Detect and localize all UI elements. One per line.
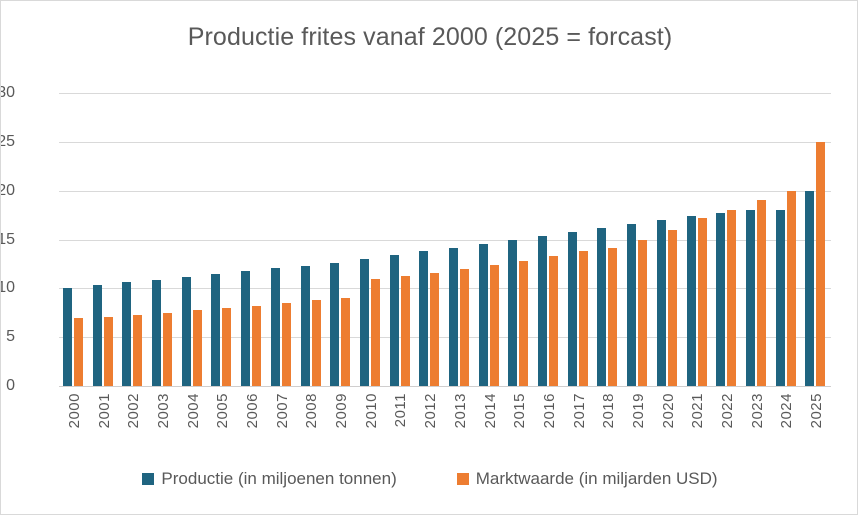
bar-productie[interactable] (211, 274, 220, 386)
bar-marktwaarde[interactable] (222, 308, 231, 386)
legend-item-productie[interactable]: Productie (in miljoenen tonnen) (142, 469, 396, 489)
y-axis-tick-label: 0 (0, 377, 15, 395)
bar-marktwaarde[interactable] (252, 306, 261, 386)
bar-group[interactable] (504, 93, 534, 386)
bar-marktwaarde[interactable] (312, 300, 321, 386)
bar-group[interactable] (653, 93, 683, 386)
x-axis-tick-label: 2023 (749, 393, 766, 428)
x-axis-tick-label: 2010 (363, 393, 380, 428)
x-axis-tick-label: 2017 (571, 393, 588, 428)
legend-item-marktwaarde[interactable]: Marktwaarde (in miljarden USD) (457, 469, 718, 489)
bar-group[interactable] (534, 93, 564, 386)
bar-group[interactable] (593, 93, 623, 386)
x-axis-tick-label: 2020 (660, 393, 677, 428)
x-axis-tick-label: 2001 (96, 393, 113, 428)
bar-productie[interactable] (419, 251, 428, 386)
x-axis-tick-label: 2018 (600, 393, 617, 428)
x-axis-tick-label: 2019 (630, 393, 647, 428)
bar-group[interactable] (742, 93, 772, 386)
bar-productie[interactable] (182, 277, 191, 386)
bar-productie[interactable] (152, 280, 161, 386)
bar-marktwaarde[interactable] (490, 265, 499, 386)
x-axis-tick-label: 2007 (274, 393, 291, 428)
bar-productie[interactable] (63, 288, 72, 386)
bar-marktwaarde[interactable] (608, 248, 617, 386)
bar-group[interactable] (801, 93, 831, 386)
y-axis-tick-label: 20 (0, 182, 15, 200)
x-axis-tick-label: 2015 (511, 393, 528, 428)
bar-group[interactable] (148, 93, 178, 386)
bar-marktwaarde[interactable] (727, 210, 736, 386)
y-axis-tick-label: 15 (0, 231, 15, 249)
y-axis-tick-label: 5 (0, 328, 15, 346)
bar-productie[interactable] (93, 285, 102, 386)
x-axis-tick-label: 2009 (333, 393, 350, 428)
bar-marktwaarde[interactable] (104, 317, 113, 386)
bar-marktwaarde[interactable] (193, 310, 202, 386)
bar-productie[interactable] (597, 228, 606, 386)
x-axis-tick-label: 2008 (303, 393, 320, 428)
bar-productie[interactable] (122, 282, 131, 386)
x-axis-tick-label: 2004 (185, 393, 202, 428)
bar-group[interactable] (326, 93, 356, 386)
bar-marktwaarde[interactable] (638, 240, 647, 387)
y-axis-tick-label: 25 (0, 133, 15, 151)
bar-productie[interactable] (390, 255, 399, 386)
bar-marktwaarde[interactable] (133, 315, 142, 386)
bar-marktwaarde[interactable] (401, 276, 410, 386)
legend-label: Productie (in miljoenen tonnen) (161, 469, 396, 489)
bar-marktwaarde[interactable] (519, 261, 528, 386)
bar-marktwaarde[interactable] (579, 251, 588, 386)
bar-group[interactable] (564, 93, 594, 386)
chart-title: Productie frites vanaf 2000 (2025 = forc… (1, 23, 858, 52)
bar-productie[interactable] (687, 216, 696, 386)
bar-productie[interactable] (508, 240, 517, 387)
bar-group[interactable] (415, 93, 445, 386)
bar-marktwaarde[interactable] (163, 313, 172, 386)
bar-group[interactable] (712, 93, 742, 386)
bar-group[interactable] (475, 93, 505, 386)
bar-group[interactable] (207, 93, 237, 386)
bar-group[interactable] (772, 93, 802, 386)
axis-baseline (59, 386, 831, 387)
bar-productie[interactable] (538, 236, 547, 386)
x-axis-tick-label: 2022 (719, 393, 736, 428)
y-axis-tick-label: 10 (0, 279, 15, 297)
bar-productie[interactable] (657, 220, 666, 386)
bar-productie[interactable] (746, 210, 755, 386)
bar-productie[interactable] (479, 244, 488, 386)
bar-group[interactable] (118, 93, 148, 386)
x-axis-tick-label: 2005 (214, 393, 231, 428)
bar-group[interactable] (267, 93, 297, 386)
plot-area (59, 93, 831, 386)
bar-marktwaarde[interactable] (371, 279, 380, 386)
bar-group[interactable] (683, 93, 713, 386)
x-axis-tick-label: 2000 (66, 393, 83, 428)
x-axis-tick-label: 2002 (125, 393, 142, 428)
bar-productie[interactable] (301, 266, 310, 386)
bar-productie[interactable] (716, 213, 725, 386)
bar-marktwaarde[interactable] (757, 200, 766, 386)
legend-swatch-icon (457, 473, 469, 485)
bar-marktwaarde[interactable] (282, 303, 291, 386)
bar-group[interactable] (297, 93, 327, 386)
x-axis-tick-label: 2024 (778, 393, 795, 428)
bar-productie[interactable] (805, 191, 814, 386)
x-axis-tick-label: 2025 (808, 393, 825, 428)
x-axis-tick-label: 2003 (155, 393, 172, 428)
x-axis-tick-label: 2013 (452, 393, 469, 428)
bar-group[interactable] (89, 93, 119, 386)
bar-productie[interactable] (360, 259, 369, 386)
bar-marktwaarde[interactable] (460, 269, 469, 386)
bar-group[interactable] (386, 93, 416, 386)
bar-productie[interactable] (449, 248, 458, 386)
bar-marktwaarde[interactable] (430, 273, 439, 386)
bar-group[interactable] (356, 93, 386, 386)
bar-group[interactable] (178, 93, 208, 386)
bar-productie[interactable] (776, 210, 785, 386)
legend-swatch-icon (142, 473, 154, 485)
bar-group[interactable] (59, 93, 89, 386)
bar-group[interactable] (445, 93, 475, 386)
bar-productie[interactable] (627, 224, 636, 386)
bar-productie[interactable] (241, 271, 250, 386)
x-axis-tick-label: 2014 (482, 393, 499, 428)
bar-marktwaarde[interactable] (341, 298, 350, 386)
bar-marktwaarde[interactable] (549, 256, 558, 386)
bar-productie[interactable] (271, 268, 280, 386)
bar-marktwaarde[interactable] (787, 191, 796, 386)
bar-productie[interactable] (330, 263, 339, 386)
bar-marktwaarde[interactable] (698, 218, 707, 386)
chart-legend: Productie (in miljoenen tonnen)Marktwaar… (1, 469, 858, 489)
bar-group[interactable] (237, 93, 267, 386)
x-axis-tick-label: 2021 (689, 393, 706, 428)
y-axis-tick-label: 30 (0, 84, 15, 102)
x-axis-tick-label: 2006 (244, 393, 261, 428)
bar-marktwaarde[interactable] (668, 230, 677, 386)
legend-label: Marktwaarde (in miljarden USD) (476, 469, 718, 489)
x-axis-tick-label: 2016 (541, 393, 558, 428)
x-axis-tick-label: 2012 (422, 393, 439, 428)
x-axis-tick-label: 2011 (392, 393, 409, 427)
chart-card: Productie frites vanaf 2000 (2025 = forc… (0, 0, 858, 515)
bar-marktwaarde[interactable] (74, 318, 83, 386)
bar-productie[interactable] (568, 232, 577, 386)
bar-group[interactable] (623, 93, 653, 386)
bar-marktwaarde[interactable] (816, 142, 825, 386)
